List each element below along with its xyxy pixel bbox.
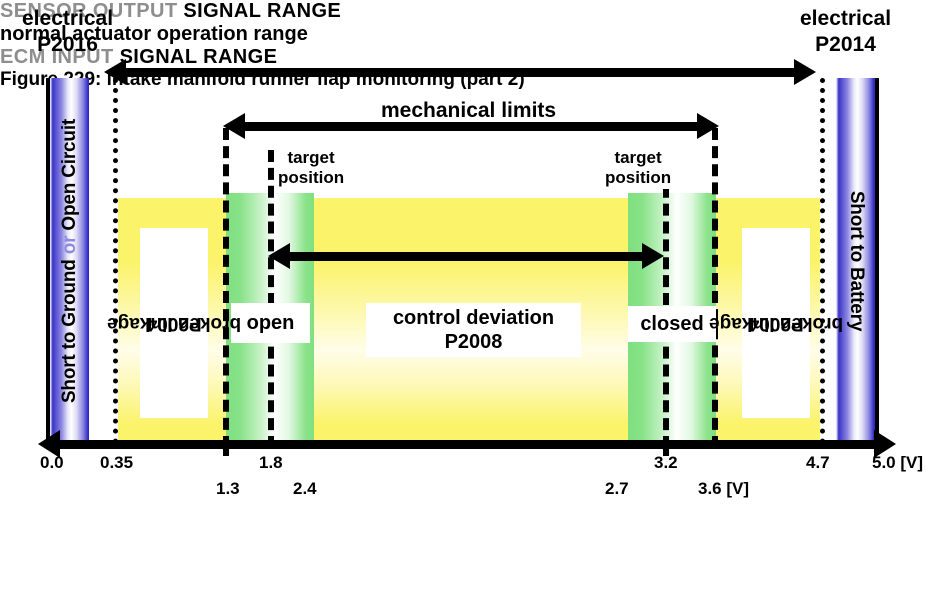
broken-linkage-left-line2: P2004 [147, 311, 202, 335]
control-deviation-line2: P2008 [393, 330, 554, 354]
axis-label-upper-0: 0.0 [40, 453, 64, 473]
axis-label-lower-1: 2.4 [293, 479, 317, 499]
voltage-axis [46, 440, 879, 449]
short-to-battery-label: Short to Battery [845, 191, 867, 331]
target-position-open-line2: position [278, 168, 344, 188]
axis-label-upper-5: 5.0 [V] [872, 453, 923, 473]
electrical-right-line1: electrical [800, 6, 891, 32]
electrical-left-line1: electrical [22, 6, 113, 32]
axis-label-lower-0: 1.3 [216, 479, 240, 499]
axis-label-lower-2: 2.7 [605, 479, 629, 499]
broken-linkage-box-left: broken linkage P2004 [140, 228, 208, 418]
target-position-line-3-2v [663, 150, 669, 448]
axis-label-upper-4: 4.7 [806, 453, 830, 473]
short-to-ground-or: or [59, 236, 80, 255]
dotted-boundary-035v [113, 78, 118, 444]
electrical-left-line2: P2016 [22, 32, 113, 58]
mechanical-limit-line-1-3v [223, 128, 229, 448]
target-position-line-1-8v [268, 150, 274, 448]
axis-tick-1-3v [223, 440, 229, 456]
mechanical-limit-line-3-6v [712, 128, 718, 448]
dotted-boundary-470v [820, 78, 825, 444]
broken-linkage-box-right: broken linkage P2004 [742, 228, 810, 418]
control-deviation-line1: control deviation [393, 306, 554, 330]
target-position-open-line1: target [278, 148, 344, 168]
sensor-output-range-suffix: SIGNAL RANGE [177, 0, 341, 22]
electrical-fault-label-right: electrical P2014 [800, 6, 891, 59]
zone-label-closed: closed [628, 306, 716, 342]
short-to-battery-band: Short to Battery [836, 78, 879, 444]
short-to-ground-band: Short to Ground or Open Circuit [46, 78, 89, 444]
axis-label-upper-3: 3.2 [654, 453, 678, 473]
target-position-label-open: target position [278, 148, 344, 189]
electrical-right-line2: P2014 [800, 32, 891, 58]
control-deviation-box: control deviation P2008 [366, 303, 581, 357]
target-position-closed-line2: position [605, 168, 671, 188]
axis-label-lower-3: 3.6 [V] [698, 479, 749, 499]
axis-label-upper-1: 0.35 [100, 453, 133, 473]
short-to-ground-prefix: Short to Ground [59, 254, 80, 403]
ecm-input-range-suffix: SIGNAL RANGE [114, 46, 278, 68]
electrical-fault-label-left: electrical P2016 [22, 6, 113, 59]
sensor-output-range-arrow [124, 68, 796, 77]
normal-actuator-range-arrow [288, 252, 644, 261]
zone-label-open: open [231, 303, 310, 343]
target-position-label-closed: target position [605, 148, 671, 189]
mechanical-limits-arrow [243, 122, 699, 131]
target-position-closed-line1: target [605, 148, 671, 168]
short-to-ground-suffix: Open Circuit [59, 119, 80, 236]
mechanical-limits-label: mechanical limits [381, 99, 556, 123]
broken-linkage-right-line2: P2004 [749, 311, 804, 335]
figure-canvas: electrical P2016 electrical P2014 SENSOR… [0, 0, 941, 604]
axis-label-upper-2: 1.8 [259, 453, 283, 473]
short-to-ground-label: Short to Ground or Open Circuit [59, 119, 81, 403]
